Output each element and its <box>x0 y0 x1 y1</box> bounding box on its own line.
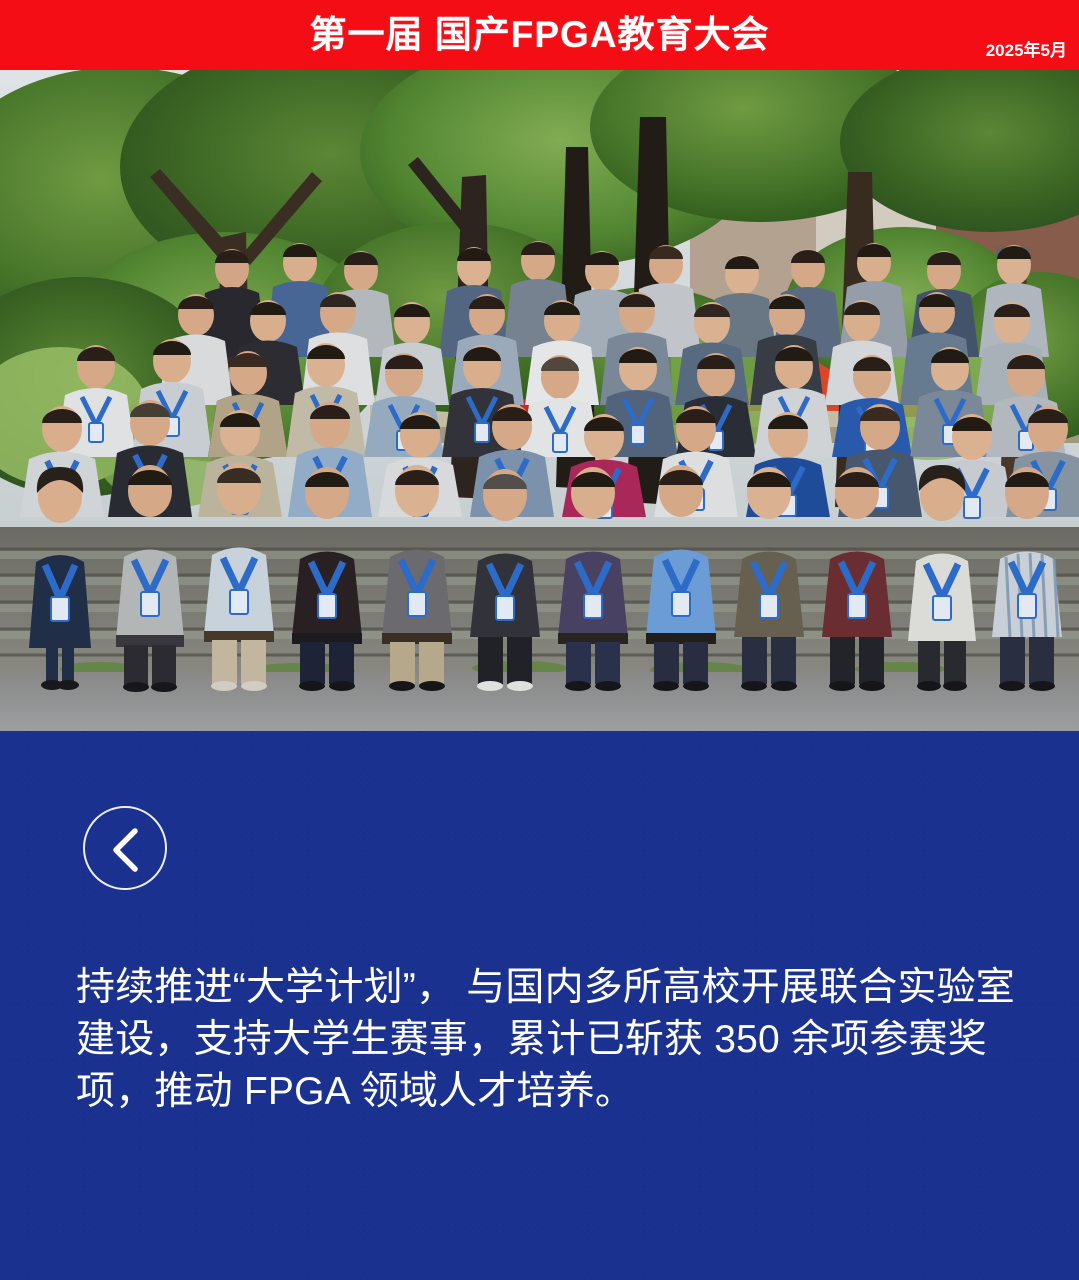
chevron-left-icon <box>85 808 169 892</box>
conference-group-photo <box>0 57 1079 732</box>
page-root: 第一届 国产FPGA教育大会 2025年5月 持续推进“大学计划”， 与国内多所… <box>0 0 1079 1280</box>
conference-banner: 第一届 国产FPGA教育大会 2025年5月 <box>0 0 1079 70</box>
page-title: 第一届 国产FPGA教育大会 <box>0 0 1079 70</box>
conference-date: 2025年5月 <box>986 36 1067 61</box>
description-paragraph: 持续推进“大学计划”， 与国内多所高校开展联合实验室建设，支持大学生赛事，累计已… <box>76 962 1016 1118</box>
photo-illustration <box>0 57 1079 732</box>
back-button[interactable] <box>83 806 167 890</box>
